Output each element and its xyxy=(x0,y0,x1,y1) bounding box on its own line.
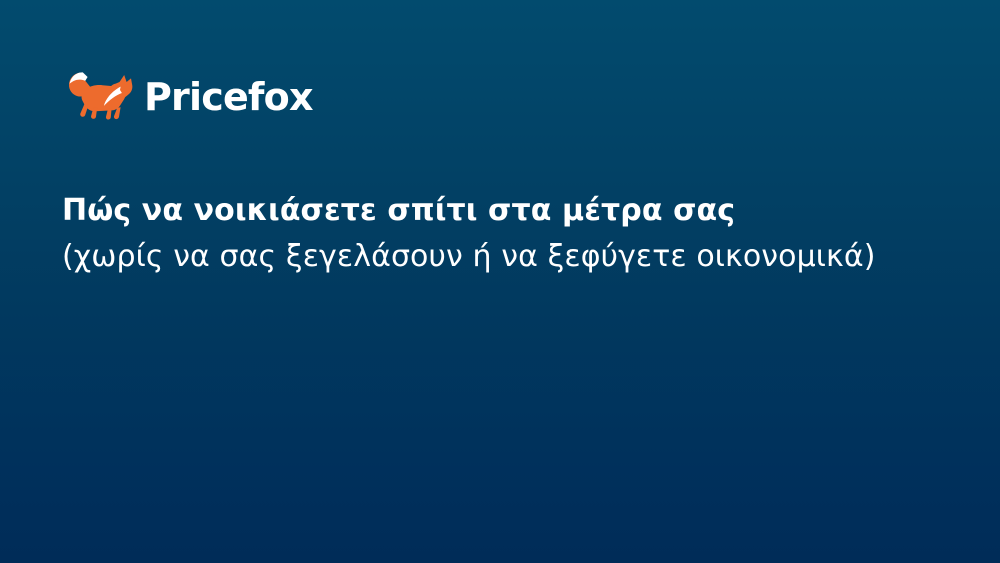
presentation-slide: Pricefox Πώς να νοικιάσετε σπίτι στα μέτ… xyxy=(0,0,1000,563)
headline-line-2: (χωρίς να σας ξεγελάσουν ή να ξεφύγετε ο… xyxy=(62,233,962,281)
brand-lockup: Pricefox xyxy=(62,68,313,122)
brand-wordmark: Pricefox xyxy=(144,78,313,116)
headline-block: Πώς να νοικιάσετε σπίτι στα μέτρα σας (χ… xyxy=(62,188,962,281)
fox-logo-icon xyxy=(62,69,140,121)
headline-line-1: Πώς να νοικιάσετε σπίτι στα μέτρα σας xyxy=(62,188,962,233)
